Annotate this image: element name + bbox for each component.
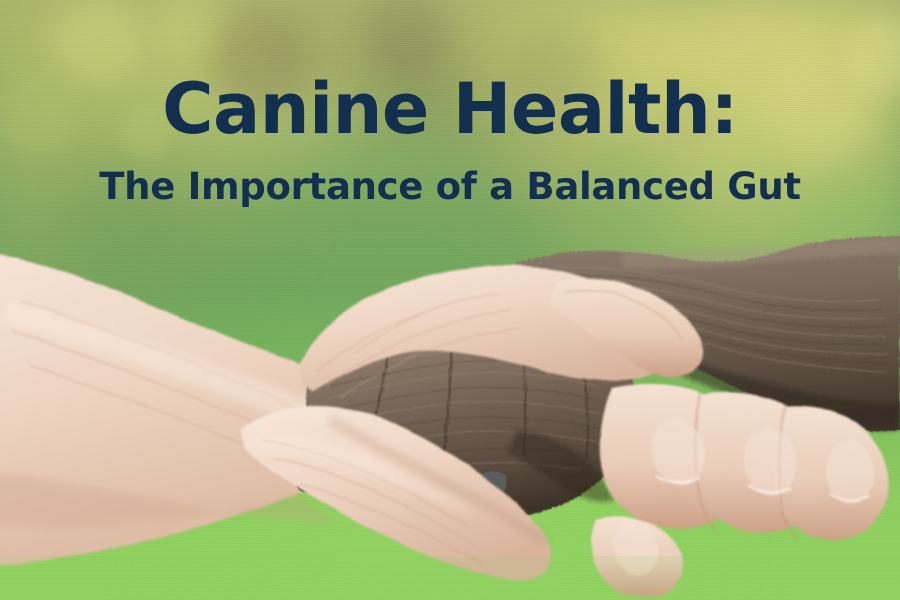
bokeh-circle [152,0,220,60]
human-hand [240,266,889,598]
dog-paw [306,298,637,519]
fingernails [645,413,877,506]
bokeh-circle [360,0,448,78]
human-forearm [0,252,392,566]
hand-fingers [600,384,889,540]
claw-3 [468,471,506,514]
claw-2 [391,452,449,511]
page-title: Canine Health: [0,74,900,144]
dog-claws [296,445,506,514]
dog-foreleg [516,236,900,432]
banner-image: Canine Health: The Importance of a Balan… [0,0,900,600]
claw-1 [296,445,360,492]
page-subtitle: The Importance of a Balanced Gut [0,168,900,205]
